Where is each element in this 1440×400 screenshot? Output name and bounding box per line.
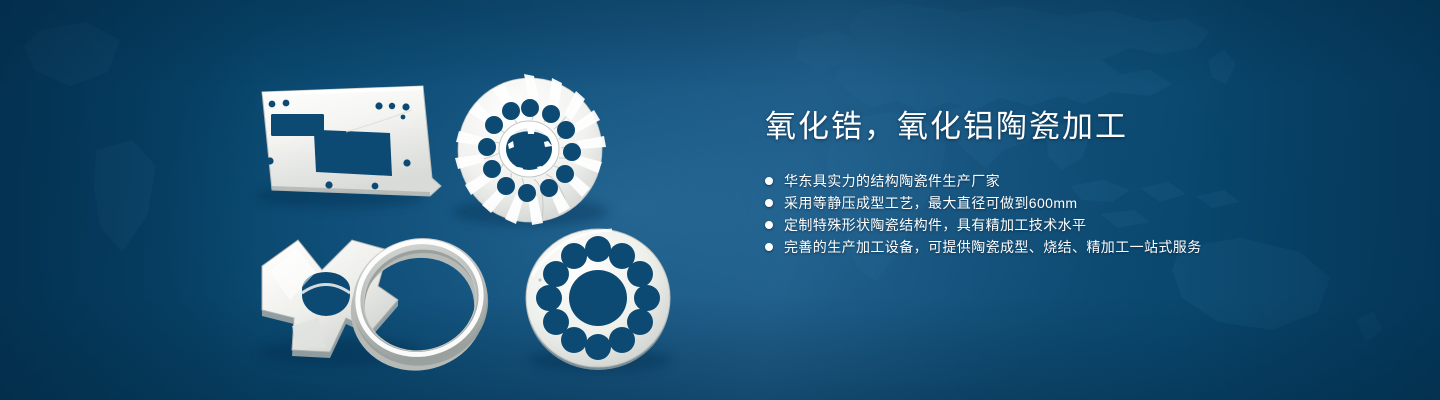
list-item: 华东具实力的结构陶瓷件生产厂家 [765,170,1385,192]
feature-text: 完善的生产加工设备，可提供陶瓷成型、烧结、精加工一站式服务 [784,236,1202,258]
feature-text: 采用等静压成型工艺，最大直径可做到600mm [784,192,1077,214]
banner-text-block: 氧化锆，氧化铝陶瓷加工 华东具实力的结构陶瓷件生产厂家 采用等静压成型工艺，最大… [765,105,1385,274]
bullet-dot-icon [765,177,773,185]
bullet-dot-icon [765,243,773,251]
list-item: 定制特殊形状陶瓷结构件，具有精加工技术水平 [765,214,1385,236]
product-image-group [0,0,760,400]
page-title: 氧化锆，氧化铝陶瓷加工 [765,105,1385,149]
feature-list: 华东具实力的结构陶瓷件生产厂家 采用等静压成型工艺，最大直径可做到600mm 定… [765,170,1385,258]
feature-text: 华东具实力的结构陶瓷件生产厂家 [784,170,1000,192]
ceramic-plate-part [262,86,441,196]
list-item: 完善的生产加工设备，可提供陶瓷成型、烧结、精加工一站式服务 [765,236,1385,258]
bullet-dot-icon [765,199,773,207]
ceramic-perforated-disc-part [526,229,670,370]
list-item: 采用等静压成型工艺，最大直径可做到600mm [765,192,1385,214]
hero-banner: 氧化锆，氧化铝陶瓷加工 华东具实力的结构陶瓷件生产厂家 采用等静压成型工艺，最大… [0,0,1440,400]
bullet-dot-icon [765,221,773,229]
feature-text: 定制特殊形状陶瓷结构件，具有精加工技术水平 [784,214,1086,236]
